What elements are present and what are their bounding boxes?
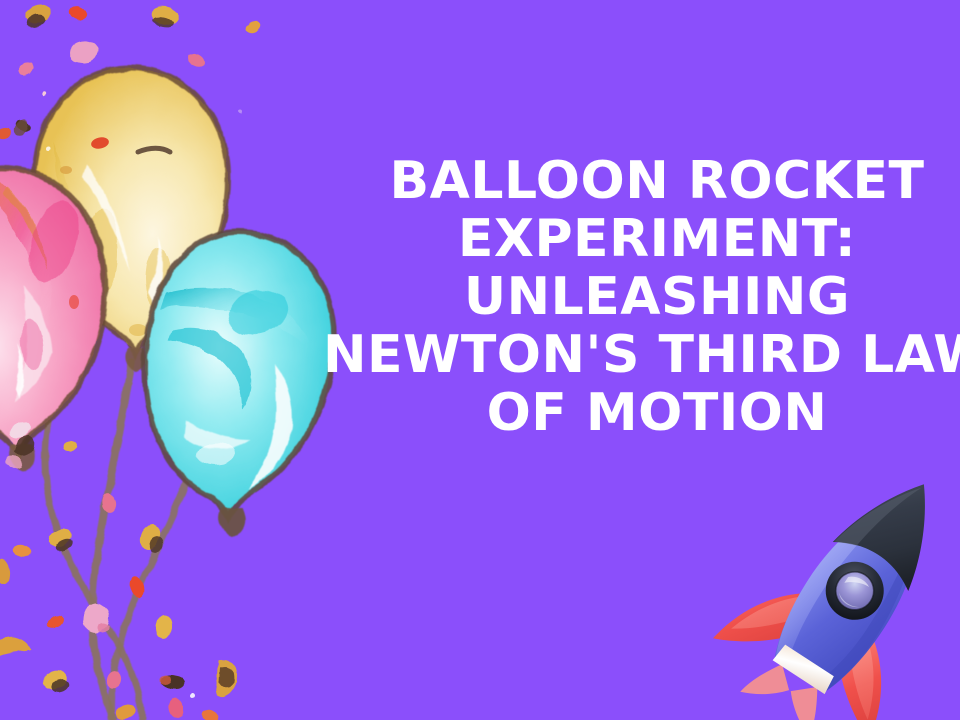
confetti-illustration [0, 0, 360, 720]
rocket-illustration [735, 445, 960, 720]
confetti-pieces [0, 1, 263, 720]
poster-canvas: BALLOON ROCKET EXPERIMENT: UNLEASHING NE… [0, 0, 960, 720]
